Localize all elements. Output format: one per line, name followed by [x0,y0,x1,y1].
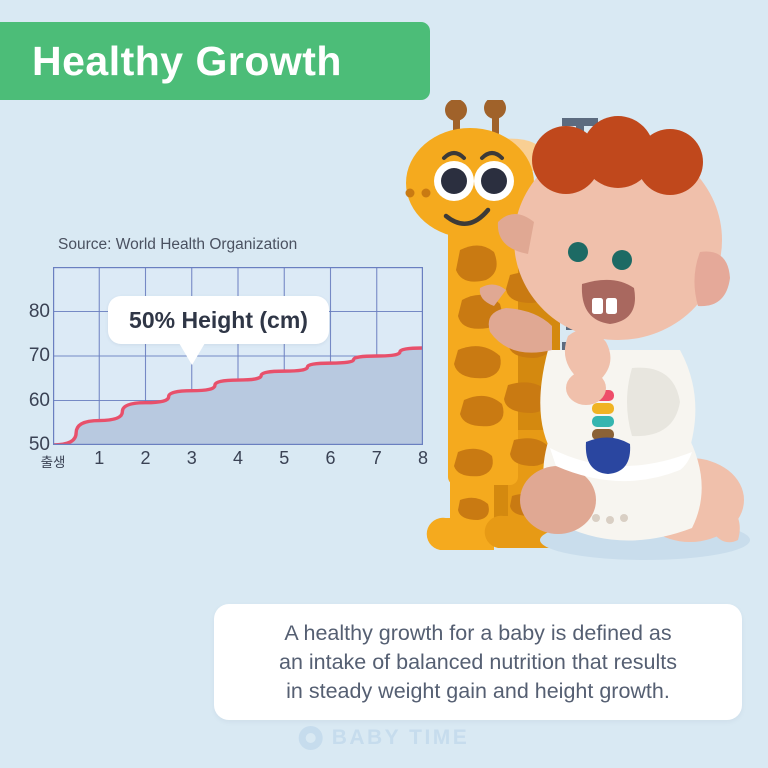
x-axis-tick-label: 7 [372,448,382,469]
illustration-svg [400,100,768,600]
description-line: A healthy growth for a baby is defined a… [284,619,671,648]
chart-callout-label: 50% Height (cm) [129,307,308,334]
header-banner: Healthy Growth [0,22,430,100]
illustration-group [400,100,768,600]
x-axis-tick-label: 6 [325,448,335,469]
growth-chart: Source: World Health Organization 506070… [20,236,432,486]
chart-x-axis: 출생12345678 [53,448,423,474]
chart-plot-area [53,267,423,445]
x-axis-tick-label: 5 [279,448,289,469]
watermark-text: BABY TIME [332,726,470,750]
x-axis-tick-label: 3 [187,448,197,469]
infographic-canvas: Healthy Growth Source: World Health Orga… [0,0,768,768]
description-line: an intake of balanced nutrition that res… [279,648,677,677]
description-card: A healthy growth for a baby is defined a… [214,604,742,720]
watermark: BABY TIME [299,726,470,750]
x-axis-tick-label: 출생 [41,451,66,471]
chart-source-label: Source: World Health Organization [58,236,297,254]
description-line: in steady weight gain and height growth. [286,677,670,706]
chart-svg [53,267,423,445]
x-axis-tick-label: 2 [140,448,150,469]
y-axis-tick-label: 60 [20,390,50,412]
y-axis-tick-label: 70 [20,345,50,367]
page-title: Healthy Growth [32,38,342,85]
chart-callout-bubble: 50% Height (cm) [108,296,329,344]
chart-y-axis: 50607080 [20,267,50,445]
chart-callout-pointer [179,343,205,365]
x-axis-tick-label: 4 [233,448,243,469]
watermark-logo-icon [299,726,323,750]
x-axis-tick-label: 1 [94,448,104,469]
y-axis-tick-label: 80 [20,301,50,323]
